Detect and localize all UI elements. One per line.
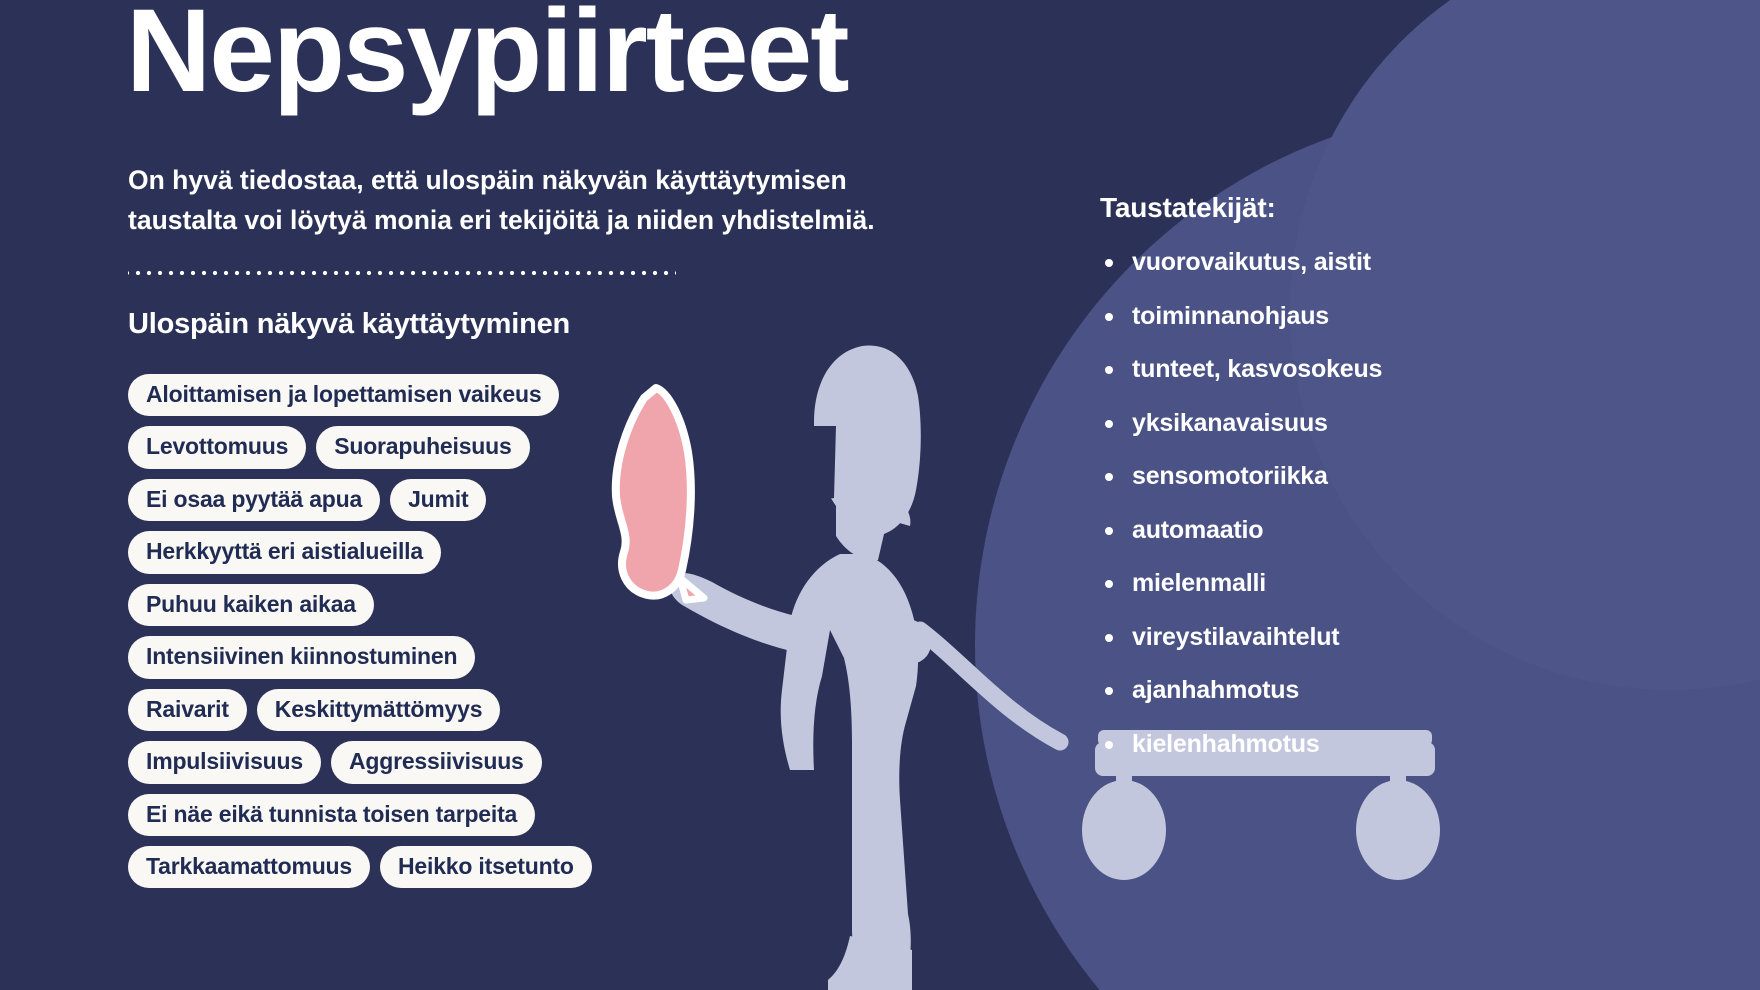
- left-section-heading: Ulospäin näkyvä käyttäytyminen: [128, 308, 570, 341]
- bullet-dot-icon: [1105, 687, 1113, 695]
- behaviour-pill[interactable]: Intensiivinen kiinnostuminen: [128, 636, 475, 678]
- behaviour-pill[interactable]: Ei osaa pyytää apua: [128, 479, 380, 521]
- background-factor-label: tunteet, kasvosokeus: [1132, 355, 1382, 383]
- behaviour-pill-list: Aloittamisen ja lopettamisen vaikeusLevo…: [128, 374, 828, 888]
- background-factor-item: kielenhahmotus: [1100, 730, 1660, 759]
- behaviour-pill[interactable]: Tarkkaamattomuus: [128, 846, 370, 888]
- background-factor-item: sensomotoriikka: [1100, 462, 1660, 491]
- subtitle-paragraph: On hyvä tiedostaa, että ulospäin näkyvän…: [128, 160, 958, 241]
- background-factor-label: vireystilavaihtelut: [1132, 623, 1339, 651]
- background-factor-item: mielenmalli: [1100, 569, 1660, 598]
- background-factor-list: vuorovaikutus, aistittoiminnanohjaustunt…: [1100, 248, 1660, 759]
- pill-row: LevottomuusSuorapuheisuus: [128, 426, 828, 468]
- behaviour-pill[interactable]: Impulsiivisuus: [128, 741, 321, 783]
- behaviour-pill[interactable]: Aloittamisen ja lopettamisen vaikeus: [128, 374, 559, 416]
- background-factor-item: vireystilavaihtelut: [1100, 623, 1660, 652]
- behaviour-pill[interactable]: Puhuu kaiken aikaa: [128, 584, 374, 626]
- pill-row: ImpulsiivisuusAggressiivisuus: [128, 741, 828, 783]
- bullet-dot-icon: [1105, 366, 1113, 374]
- behaviour-pill[interactable]: Keskittymättömyys: [257, 689, 501, 731]
- background-factor-label: sensomotoriikka: [1132, 462, 1328, 490]
- pill-row: TarkkaamattomuusHeikko itsetunto: [128, 846, 828, 888]
- bullet-dot-icon: [1105, 527, 1113, 535]
- background-factor-label: toiminnanohjaus: [1132, 302, 1329, 330]
- pill-row: Ei näe eikä tunnista toisen tarpeita: [128, 794, 828, 836]
- background-factor-label: automaatio: [1132, 516, 1263, 544]
- behaviour-pill[interactable]: Suorapuheisuus: [316, 426, 529, 468]
- subtitle-line-1: On hyvä tiedostaa, että ulospäin näkyvän…: [128, 160, 958, 200]
- behaviour-pill[interactable]: Levottomuus: [128, 426, 306, 468]
- bullet-dot-icon: [1105, 420, 1113, 428]
- infographic-canvas: Nepsypiirteet On hyvä tiedostaa, että ul…: [0, 0, 1760, 990]
- behaviour-pill[interactable]: Jumit: [390, 479, 486, 521]
- bullet-dot-icon: [1105, 473, 1113, 481]
- behaviour-pill[interactable]: Raivarit: [128, 689, 247, 731]
- dotted-divider: [128, 270, 676, 276]
- background-factor-label: mielenmalli: [1132, 569, 1266, 597]
- bullet-dot-icon: [1105, 313, 1113, 321]
- pill-row: Puhuu kaiken aikaa: [128, 584, 828, 626]
- right-section-heading: Taustatekijät:: [1100, 192, 1660, 224]
- bullet-dot-icon: [1105, 741, 1113, 749]
- pill-row: Herkkyyttä eri aistialueilla: [128, 531, 828, 573]
- background-factor-label: vuorovaikutus, aistit: [1132, 248, 1371, 276]
- background-factor-label: yksikanavaisuus: [1132, 409, 1328, 437]
- background-factor-label: ajanhahmotus: [1132, 676, 1299, 704]
- background-factor-label: kielenhahmotus: [1132, 730, 1320, 758]
- background-factor-item: tunteet, kasvosokeus: [1100, 355, 1660, 384]
- behaviour-pill[interactable]: Aggressiivisuus: [331, 741, 542, 783]
- pill-row: Intensiivinen kiinnostuminen: [128, 636, 828, 678]
- bullet-dot-icon: [1105, 259, 1113, 267]
- page-title: Nepsypiirteet: [126, 0, 848, 110]
- background-factor-item: ajanhahmotus: [1100, 676, 1660, 705]
- pill-row: Aloittamisen ja lopettamisen vaikeus: [128, 374, 828, 416]
- subtitle-line-2: taustalta voi löytyä monia eri tekijöitä…: [128, 200, 958, 240]
- right-section: Taustatekijät: vuorovaikutus, aistittoim…: [1100, 192, 1660, 783]
- pill-row: Ei osaa pyytää apuaJumit: [128, 479, 828, 521]
- behaviour-pill[interactable]: Ei näe eikä tunnista toisen tarpeita: [128, 794, 535, 836]
- behaviour-pill[interactable]: Heikko itsetunto: [380, 846, 592, 888]
- background-factor-item: vuorovaikutus, aistit: [1100, 248, 1660, 277]
- background-factor-item: yksikanavaisuus: [1100, 409, 1660, 438]
- pill-row: RaivaritKeskittymättömyys: [128, 689, 828, 731]
- bullet-dot-icon: [1105, 580, 1113, 588]
- behaviour-pill[interactable]: Herkkyyttä eri aistialueilla: [128, 531, 441, 573]
- background-factor-item: automaatio: [1100, 516, 1660, 545]
- bullet-dot-icon: [1105, 634, 1113, 642]
- background-factor-item: toiminnanohjaus: [1100, 302, 1660, 331]
